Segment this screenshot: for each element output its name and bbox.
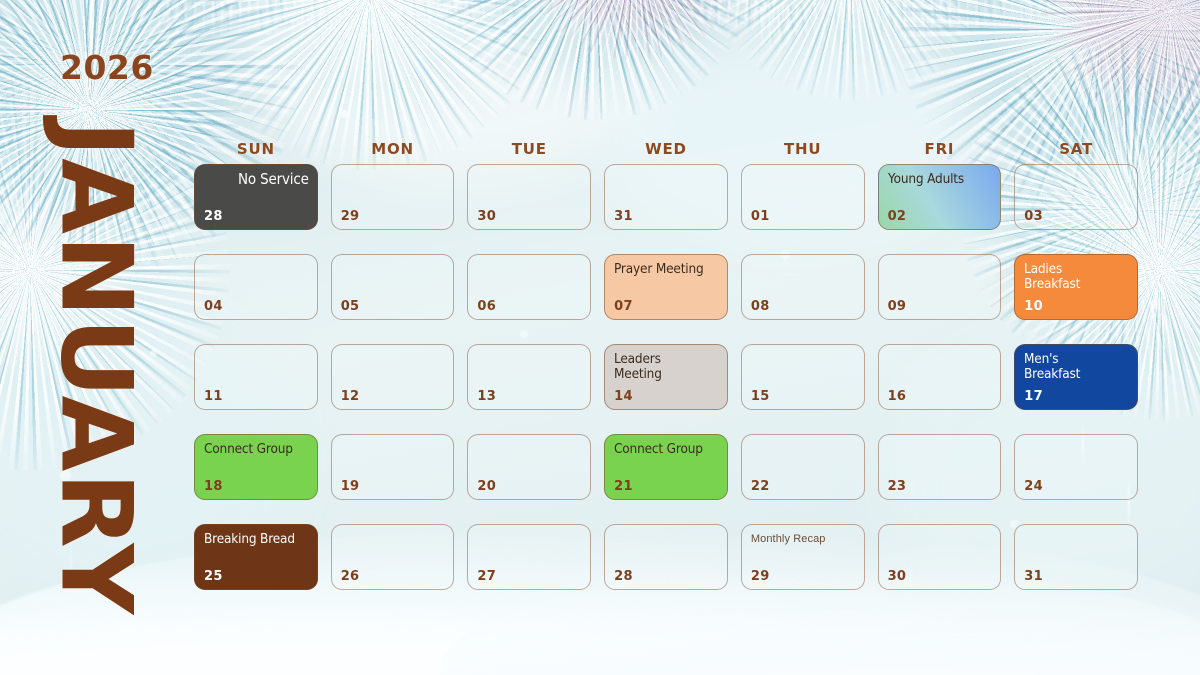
day-number: 31 bbox=[614, 209, 633, 224]
day-event-label: Prayer Meeting bbox=[614, 262, 708, 277]
day-event-label: Connect Group bbox=[614, 442, 708, 457]
day-number: 02 bbox=[888, 209, 907, 224]
calendar-day-cell[interactable]: Monthly Recap29 bbox=[741, 524, 865, 590]
calendar-grid: SUN MON TUE WED THU FRI SAT No Service28… bbox=[194, 140, 1138, 590]
calendar-day-cell[interactable]: Ladies Breakfast10 bbox=[1014, 254, 1138, 320]
month-label: JANUARY bbox=[50, 121, 140, 616]
day-number: 09 bbox=[888, 299, 907, 314]
calendar-day-cell[interactable]: 05 bbox=[331, 254, 455, 320]
day-number: 12 bbox=[341, 389, 360, 404]
calendar-day-cell[interactable]: 30 bbox=[467, 164, 591, 230]
calendar-day-cell[interactable]: 24 bbox=[1014, 434, 1138, 500]
calendar-day-cell[interactable]: 31 bbox=[1014, 524, 1138, 590]
frost-branch-bar bbox=[429, 0, 790, 35]
day-number: 31 bbox=[1024, 569, 1043, 584]
day-number: 27 bbox=[477, 569, 496, 584]
day-number: 23 bbox=[888, 479, 907, 494]
day-number: 05 bbox=[341, 299, 360, 314]
day-number: 06 bbox=[477, 299, 496, 314]
day-number: 13 bbox=[477, 389, 496, 404]
day-number: 15 bbox=[751, 389, 770, 404]
calendar-week-row: 040506Prayer Meeting070809Ladies Breakfa… bbox=[194, 254, 1138, 320]
calendar-day-cell[interactable]: 26 bbox=[331, 524, 455, 590]
calendar-day-cell[interactable]: 01 bbox=[741, 164, 865, 230]
calendar-day-cell[interactable]: 11 bbox=[194, 344, 318, 410]
day-number: 29 bbox=[341, 209, 360, 224]
calendar-day-cell[interactable]: 12 bbox=[331, 344, 455, 410]
calendar-day-cell[interactable]: 27 bbox=[467, 524, 591, 590]
weekday-header-fri: FRI bbox=[878, 140, 1002, 158]
calendar-day-cell[interactable]: 15 bbox=[741, 344, 865, 410]
calendar-poster: 2026 JANUARY SUN MON TUE WED THU FRI SAT… bbox=[0, 0, 1200, 675]
day-event-label: Monthly Recap bbox=[751, 534, 856, 546]
day-number: 20 bbox=[477, 479, 496, 494]
weekday-header-sat: SAT bbox=[1014, 140, 1138, 158]
frost-pine-spray bbox=[700, 0, 1000, 100]
day-number: 17 bbox=[1024, 389, 1043, 404]
calendar-week-row: Breaking Bread25262728Monthly Recap29303… bbox=[194, 524, 1138, 590]
day-number: 10 bbox=[1024, 299, 1043, 314]
frost-branch-bar bbox=[139, 0, 560, 43]
day-event-label: Ladies Breakfast bbox=[1024, 262, 1118, 291]
day-number: 28 bbox=[204, 209, 223, 224]
calendar-day-cell[interactable]: 03 bbox=[1014, 164, 1138, 230]
day-event-label: Leaders Meeting bbox=[614, 352, 708, 381]
day-number: 08 bbox=[751, 299, 770, 314]
day-number: 24 bbox=[1024, 479, 1043, 494]
day-number: 22 bbox=[751, 479, 770, 494]
calendar-day-cell[interactable]: 29 bbox=[331, 164, 455, 230]
calendar-week-row: No Service2829303101Young Adults0203 bbox=[194, 164, 1138, 230]
day-number: 19 bbox=[341, 479, 360, 494]
day-number: 28 bbox=[614, 569, 633, 584]
day-number: 14 bbox=[614, 389, 633, 404]
day-number: 03 bbox=[1024, 209, 1043, 224]
day-number: 21 bbox=[614, 479, 633, 494]
day-number: 30 bbox=[888, 569, 907, 584]
frost-pine-spray bbox=[1040, 0, 1200, 140]
day-event-label: Young Adults bbox=[888, 172, 982, 187]
day-number: 16 bbox=[888, 389, 907, 404]
calendar-day-cell[interactable]: Young Adults02 bbox=[878, 164, 1002, 230]
frost-pine-spray bbox=[430, 0, 760, 120]
day-number: 11 bbox=[204, 389, 223, 404]
calendar-day-cell[interactable]: 31 bbox=[604, 164, 728, 230]
calendar-day-cell[interactable]: 19 bbox=[331, 434, 455, 500]
frost-branch-bar bbox=[759, 0, 1200, 50]
day-number: 07 bbox=[614, 299, 633, 314]
calendar-week-row: 111213Leaders Meeting141516Men's Breakfa… bbox=[194, 344, 1138, 410]
day-number: 26 bbox=[341, 569, 360, 584]
weekday-header-wed: WED bbox=[604, 140, 728, 158]
weekday-header-mon: MON bbox=[331, 140, 455, 158]
calendar-day-cell[interactable]: Men's Breakfast17 bbox=[1014, 344, 1138, 410]
weekday-header-tue: TUE bbox=[467, 140, 591, 158]
weekday-header-thu: THU bbox=[741, 140, 865, 158]
day-number: 04 bbox=[204, 299, 223, 314]
calendar-weeks: No Service2829303101Young Adults02030405… bbox=[194, 164, 1138, 590]
weekday-header-sun: SUN bbox=[194, 140, 318, 158]
day-event-label: Connect Group bbox=[204, 442, 298, 457]
day-number: 30 bbox=[477, 209, 496, 224]
day-number: 29 bbox=[751, 569, 770, 584]
calendar-day-cell[interactable]: Connect Group21 bbox=[604, 434, 728, 500]
day-event-label: No Service bbox=[214, 172, 308, 187]
calendar-day-cell[interactable]: 30 bbox=[878, 524, 1002, 590]
day-event-label: Breaking Bread bbox=[204, 532, 298, 547]
calendar-day-cell[interactable]: 04 bbox=[194, 254, 318, 320]
calendar-day-cell[interactable]: Breaking Bread25 bbox=[194, 524, 318, 590]
calendar-day-cell[interactable]: Prayer Meeting07 bbox=[604, 254, 728, 320]
calendar-day-cell[interactable]: Connect Group18 bbox=[194, 434, 318, 500]
calendar-day-cell[interactable]: 23 bbox=[878, 434, 1002, 500]
snow-fleck bbox=[1150, 300, 1159, 309]
snow-streak bbox=[1166, 380, 1168, 426]
calendar-day-cell[interactable]: 06 bbox=[467, 254, 591, 320]
calendar-day-cell[interactable]: 13 bbox=[467, 344, 591, 410]
calendar-day-cell[interactable]: Leaders Meeting14 bbox=[604, 344, 728, 410]
snow-fleck bbox=[340, 110, 348, 118]
calendar-day-cell[interactable]: 28 bbox=[604, 524, 728, 590]
calendar-day-cell[interactable]: 20 bbox=[467, 434, 591, 500]
month-title: JANUARY bbox=[0, 108, 190, 628]
calendar-day-cell[interactable]: No Service28 bbox=[194, 164, 318, 230]
calendar-week-row: Connect Group181920Connect Group21222324 bbox=[194, 434, 1138, 500]
calendar-day-cell[interactable]: 22 bbox=[741, 434, 865, 500]
day-number: 25 bbox=[204, 569, 223, 584]
year-label: 2026 bbox=[60, 48, 154, 87]
day-event-label: Men's Breakfast bbox=[1024, 352, 1118, 381]
calendar-day-cell[interactable]: 16 bbox=[878, 344, 1002, 410]
frost-pine-spray bbox=[520, 0, 750, 60]
day-number: 18 bbox=[204, 479, 223, 494]
calendar-day-cell[interactable]: 09 bbox=[878, 254, 1002, 320]
weekday-header-row: SUN MON TUE WED THU FRI SAT bbox=[194, 140, 1138, 158]
calendar-day-cell[interactable]: 08 bbox=[741, 254, 865, 320]
day-number: 01 bbox=[751, 209, 770, 224]
